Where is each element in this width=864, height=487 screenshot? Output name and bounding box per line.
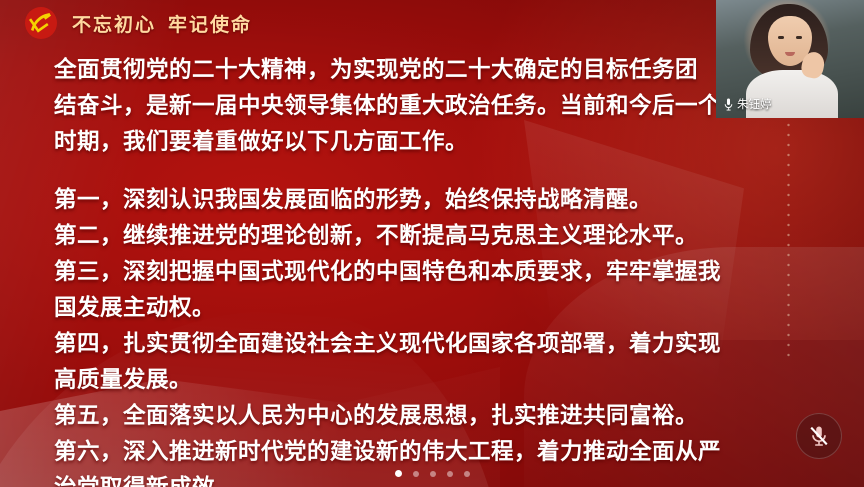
pagination-dot[interactable]: [447, 471, 453, 477]
page-title-right: 牢记使命: [168, 14, 252, 36]
pagination-dot[interactable]: [395, 470, 402, 477]
pagination-dot[interactable]: [430, 471, 436, 477]
participant-name-badge: 朱钰婷: [724, 96, 772, 112]
body-line: 高质量发展。: [54, 362, 806, 398]
hammer-sickle-emblem-icon: [24, 6, 58, 40]
body-line: 第三，深刻把握中国式现代化的中国特色和本质要求，牢牢掌握我: [54, 254, 806, 290]
paragraph-spacer: [54, 160, 806, 182]
page-title-left: 不忘初心: [72, 14, 156, 36]
page-title: 不忘初心牢记使命: [72, 10, 252, 37]
microphone-icon: [724, 98, 733, 111]
body-line: 结奋斗，是新一届中央领导集体的重大政治任务。当前和今后一个: [54, 88, 806, 124]
participant-name-label: 朱钰婷: [737, 96, 772, 112]
paragraph-list: 第一，深刻认识我国发展面临的形势，始终保持战略清醒。 第二，继续推进党的理论创新…: [54, 182, 806, 487]
body-line: 第一，深刻认识我国发展面临的形势，始终保持战略清醒。: [54, 182, 806, 218]
mute-toggle-button[interactable]: [796, 413, 842, 459]
body-line: 第六，深入推进新时代党的建设新的伟大工程，着力推动全面从严: [54, 434, 806, 470]
body-line: 第五，全面落实以人民为中心的发展思想，扎实推进共同富裕。: [54, 398, 806, 434]
avatar-eye-left: [778, 36, 784, 39]
body-line: 第二，继续推进党的理论创新，不断提高马克思主义理论水平。: [54, 218, 806, 254]
paragraph-intro: 全面贯彻党的二十大精神，为实现党的二十大确定的目标任务团 结奋斗，是新一届中央领…: [54, 52, 806, 160]
participant-video-tile[interactable]: 朱钰婷: [716, 0, 864, 118]
body-line: 时期，我们要着重做好以下几方面工作。: [54, 124, 806, 160]
slide-body: 全面贯彻党的二十大精神，为实现党的二十大确定的目标任务团 结奋斗，是新一届中央领…: [54, 52, 806, 487]
body-line: 全面贯彻党的二十大精神，为实现党的二十大确定的目标任务团: [54, 52, 806, 88]
pagination-dots[interactable]: [0, 470, 864, 477]
slide-stage: 不忘初心牢记使命 全面贯彻党的二十大精神，为实现党的二十大确定的目标任务团 结奋…: [0, 0, 864, 487]
microphone-muted-icon: [807, 424, 831, 448]
pagination-dot[interactable]: [464, 471, 470, 477]
slide-header: 不忘初心牢记使命: [0, 0, 252, 46]
pagination-dot[interactable]: [413, 471, 419, 477]
body-line: 国发展主动权。: [54, 290, 806, 326]
body-line: 第四，扎实贯彻全面建设社会主义现代化国家各项部署，着力实现: [54, 326, 806, 362]
avatar-eye-right: [796, 36, 802, 39]
